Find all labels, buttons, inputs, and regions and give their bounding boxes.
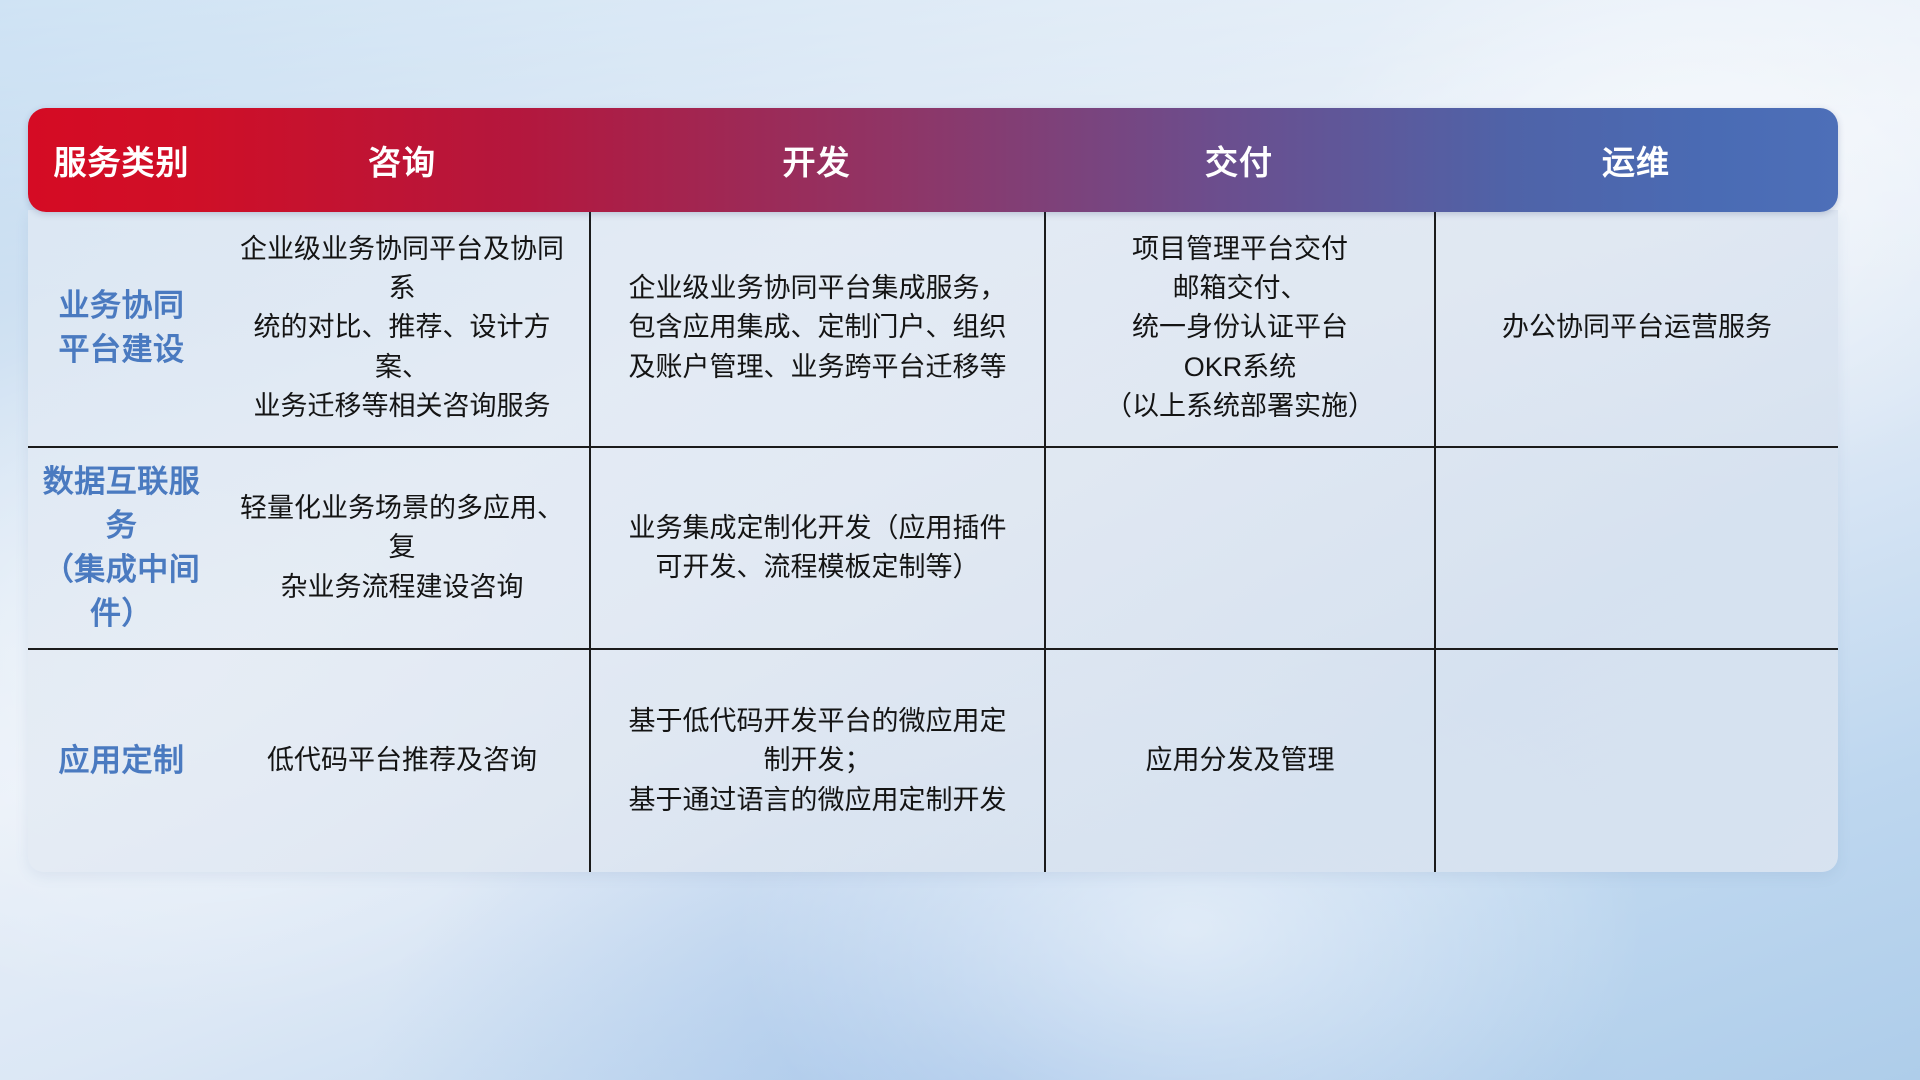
column-header-delivery: 交付 bbox=[1044, 108, 1434, 212]
cell-text: 项目管理平台交付 邮箱交付、 统一身份认证平台 OKR系统 （以上系统部署实施） bbox=[1105, 230, 1375, 426]
column-header-operations: 运维 bbox=[1434, 108, 1838, 212]
cell-category: 业务协同 平台建设 bbox=[28, 210, 215, 446]
cell-development: 基于低代码开发平台的微应用定 制开发； 基于通过语言的微应用定制开发 bbox=[589, 650, 1044, 872]
cell-development: 业务集成定制化开发（应用插件 可开发、流程模板定制等） bbox=[589, 448, 1044, 648]
column-header-category: 服务类别 bbox=[28, 108, 215, 212]
column-header-consulting: 咨询 bbox=[215, 108, 589, 212]
column-header-development-label: 开发 bbox=[783, 136, 851, 184]
category-label: 数据互联服务 （集成中间件） bbox=[42, 460, 201, 636]
column-header-delivery-label: 交付 bbox=[1205, 136, 1273, 184]
cell-delivery: 项目管理平台交付 邮箱交付、 统一身份认证平台 OKR系统 （以上系统部署实施） bbox=[1044, 210, 1434, 446]
cell-text: 低代码平台推荐及咨询 bbox=[267, 741, 537, 780]
cell-operations: 办公协同平台运营服务 bbox=[1434, 210, 1838, 446]
cell-text: 企业级业务协同平台及协同系 统的对比、推荐、设计方案、 业务迁移等相关咨询服务 bbox=[229, 230, 575, 426]
table-header-row: 服务类别 咨询 开发 交付 运维 bbox=[28, 108, 1838, 212]
table-body: 业务协同 平台建设 企业级业务协同平台及协同系 统的对比、推荐、设计方案、 业务… bbox=[28, 210, 1838, 872]
cell-text: 基于低代码开发平台的微应用定 制开发； 基于通过语言的微应用定制开发 bbox=[629, 702, 1007, 819]
column-header-operations-label: 运维 bbox=[1602, 136, 1670, 184]
cell-text: 应用分发及管理 bbox=[1146, 741, 1335, 780]
table-row: 数据互联服务 （集成中间件） 轻量化业务场景的多应用、复 杂业务流程建设咨询 业… bbox=[28, 446, 1838, 648]
column-header-consulting-label: 咨询 bbox=[368, 136, 436, 184]
cell-text: 办公协同平台运营服务 bbox=[1502, 308, 1772, 347]
cell-delivery: 应用分发及管理 bbox=[1044, 650, 1434, 872]
cell-development: 企业级业务协同平台集成服务， 包含应用集成、定制门户、组织 及账户管理、业务跨平… bbox=[589, 210, 1044, 446]
cell-operations bbox=[1434, 650, 1838, 872]
column-header-development: 开发 bbox=[589, 108, 1044, 212]
service-matrix-table: 服务类别 咨询 开发 交付 运维 业务协同 平台建设 企业级业务协同平台及协同系… bbox=[28, 108, 1838, 872]
category-label: 业务协同 平台建设 bbox=[59, 284, 185, 372]
cell-category: 数据互联服务 （集成中间件） bbox=[28, 448, 215, 648]
cell-consulting: 低代码平台推荐及咨询 bbox=[215, 650, 589, 872]
cell-operations bbox=[1434, 448, 1838, 648]
category-label: 应用定制 bbox=[59, 739, 185, 783]
cell-text: 业务集成定制化开发（应用插件 可开发、流程模板定制等） bbox=[629, 509, 1007, 587]
table-row: 业务协同 平台建设 企业级业务协同平台及协同系 统的对比、推荐、设计方案、 业务… bbox=[28, 210, 1838, 446]
cell-consulting: 企业级业务协同平台及协同系 统的对比、推荐、设计方案、 业务迁移等相关咨询服务 bbox=[215, 210, 589, 446]
cell-consulting: 轻量化业务场景的多应用、复 杂业务流程建设咨询 bbox=[215, 448, 589, 648]
table-row: 应用定制 低代码平台推荐及咨询 基于低代码开发平台的微应用定 制开发； 基于通过… bbox=[28, 648, 1838, 872]
cell-text: 轻量化业务场景的多应用、复 杂业务流程建设咨询 bbox=[229, 489, 575, 606]
cell-delivery bbox=[1044, 448, 1434, 648]
column-header-category-label: 服务类别 bbox=[54, 136, 190, 184]
cell-text: 企业级业务协同平台集成服务， 包含应用集成、定制门户、组织 及账户管理、业务跨平… bbox=[629, 269, 1007, 386]
cell-category: 应用定制 bbox=[28, 650, 215, 872]
